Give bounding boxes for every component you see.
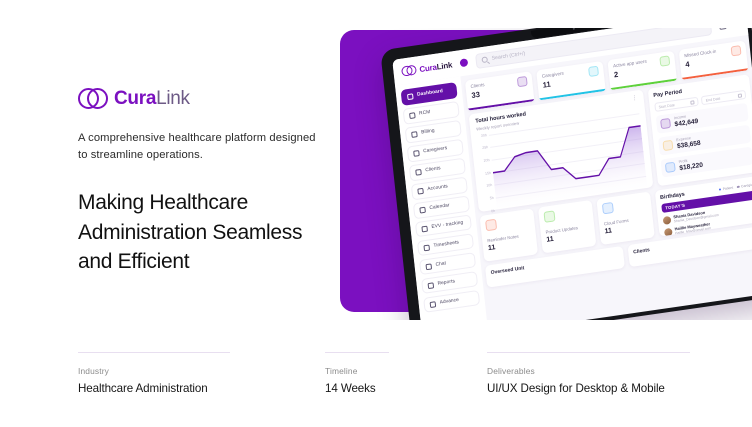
brand-wordmark: CuraLink: [114, 88, 190, 110]
divider: [78, 352, 230, 353]
case-study-slide: CuraLink A comprehensive healthcare plat…: [0, 0, 752, 427]
user-icon: [415, 169, 422, 176]
hours-worked-chart-card: Total hours worked Weekly report overvie…: [469, 90, 654, 213]
sidebar-item-label: Advance: [440, 298, 460, 306]
target-icon: [409, 112, 416, 119]
dashboard-logo: CuraLink: [401, 59, 453, 77]
meta-label: Deliverables: [487, 366, 690, 376]
receipt-icon: [411, 131, 418, 138]
end-date-placeholder: End Date: [705, 96, 720, 102]
chat-icon: [425, 263, 432, 270]
meta-value: UI/UX Design for Desktop & Mobile: [487, 382, 690, 395]
chart-icon: [428, 282, 435, 289]
sidebar-item-label: Calendar: [429, 203, 450, 211]
brand-word-secondary: Link: [156, 88, 190, 109]
sidebar-item-label: Billing: [421, 129, 435, 136]
stat-value: 11: [542, 78, 565, 90]
calendar-icon: [419, 206, 426, 213]
pay-period-card: Pay Period Start Date End Date: [648, 74, 752, 186]
sidebar-item-advance[interactable]: Advance: [423, 290, 480, 313]
wallet-icon: [417, 188, 424, 195]
income-icon: [660, 118, 671, 129]
sidebar-item-label: Clients: [425, 166, 441, 173]
sidebar-item-label: Reports: [437, 279, 455, 286]
stat-value: 33: [471, 89, 486, 100]
users-icon: [517, 76, 528, 87]
sidebar-item-label: Accounts: [427, 185, 448, 193]
divider: [487, 352, 690, 353]
settings-icon: [430, 301, 437, 308]
cloud-icon: [602, 202, 614, 215]
tile-card[interactable]: Product Updates11: [538, 200, 596, 253]
meta-label: Timeline: [325, 366, 389, 376]
stat-card[interactable]: Clients33: [465, 71, 535, 110]
sidebar-item-label: Chat: [435, 261, 446, 267]
note-icon: [485, 219, 497, 232]
search-placeholder: Search (Ctrl+/): [491, 51, 525, 62]
expense-icon: [662, 140, 673, 151]
y-tick-label: 10h: [486, 183, 492, 188]
dashboard-screen: CuraLink Search (Ctrl+/) DashboardRCMBil…: [392, 28, 752, 320]
sidebar-item-label: RCM: [419, 110, 431, 117]
tagline: A comprehensive healthcare platform desi…: [78, 130, 318, 165]
sidebar-item-label: EVV - tracking: [431, 221, 463, 231]
curalink-logo: CuraLink: [78, 86, 328, 112]
y-tick-label: 30h: [481, 133, 487, 138]
avatar: [663, 227, 672, 236]
laptop-device-frame: CuraLink Search (Ctrl+/) DashboardRCMBil…: [380, 28, 752, 320]
brand-word-primary: Cura: [114, 88, 156, 109]
stat-value: 4: [685, 56, 718, 70]
y-tick-label: 25h: [482, 145, 488, 150]
divider: [325, 352, 389, 353]
sidebar-item-label: Dashboard: [417, 89, 443, 98]
meta-timeline: Timeline 14 Weeks: [325, 352, 389, 395]
legend-patient: Patient: [723, 186, 734, 191]
pay-period-rows: Income$42,649Expense$38,658Profit$18,220: [656, 103, 752, 178]
nurse-icon: [588, 66, 599, 77]
alert-icon: [731, 45, 742, 56]
left-content-column: CuraLink A comprehensive healthcare plat…: [78, 86, 328, 277]
birthdays-card: Birthdays Patient Caregiver TODAY'S S: [654, 176, 752, 237]
stat-card[interactable]: Active app users2: [607, 51, 677, 90]
y-tick-label: 20h: [483, 158, 489, 163]
heart-hand-icon: [413, 150, 420, 157]
birthdays-legend: Patient Caregiver: [719, 182, 752, 191]
clipboard-icon: [423, 244, 430, 251]
mobile-icon: [421, 225, 428, 232]
profit-icon: [665, 162, 676, 173]
meta-label: Industry: [78, 366, 230, 376]
stat-title: Clients: [470, 82, 484, 89]
power-icon: [659, 55, 670, 66]
meta-value: Healthcare Administration: [78, 382, 230, 395]
dashboard-wordmark: CuraLink: [419, 60, 453, 74]
tile-card[interactable]: Cloud Forms11: [596, 192, 654, 245]
dashboard-main: Clients33Caregivers11Active app users2Mi…: [460, 35, 752, 320]
meta-industry: Industry Healthcare Administration: [78, 352, 230, 395]
refresh-icon: [543, 210, 555, 223]
calendar-icon: [691, 100, 695, 105]
page-title: Making Healthcare Administration Seamles…: [78, 188, 328, 277]
sidebar-item-label: Caregivers: [423, 146, 447, 154]
topbar-icons: [719, 28, 740, 29]
home-icon: [407, 93, 414, 100]
more-options-icon[interactable]: ⋮: [631, 96, 637, 101]
start-date-placeholder: Start Date: [658, 103, 674, 109]
overlapping-circles-logo-icon: [78, 88, 108, 110]
y-tick-label: 5h: [489, 196, 493, 201]
legend-caregiver: Caregiver: [741, 182, 752, 188]
accessibility-icon[interactable]: [719, 28, 727, 29]
calendar-icon: [738, 93, 742, 98]
tile-card[interactable]: Reminder Notes11: [480, 208, 538, 261]
stat-card[interactable]: Missed Clock-in4: [679, 40, 749, 79]
y-tick-label: 15h: [485, 171, 491, 176]
overlapping-circles-logo-icon: [401, 64, 417, 77]
meta-value: 14 Weeks: [325, 382, 389, 395]
y-tick-label: 0h: [491, 208, 495, 213]
stat-card[interactable]: Caregivers11: [536, 61, 606, 100]
meta-deliverables: Deliverables UI/UX Design for Desktop & …: [487, 352, 690, 395]
birthdays-title: Birthdays: [660, 192, 685, 202]
sidebar-item-label: Timesheets: [433, 240, 459, 249]
product-mockup: CuraLink Search (Ctrl+/) DashboardRCMBil…: [338, 28, 752, 320]
search-icon: [482, 56, 489, 63]
avatar: [662, 215, 671, 224]
notification-badge[interactable]: [460, 58, 469, 67]
